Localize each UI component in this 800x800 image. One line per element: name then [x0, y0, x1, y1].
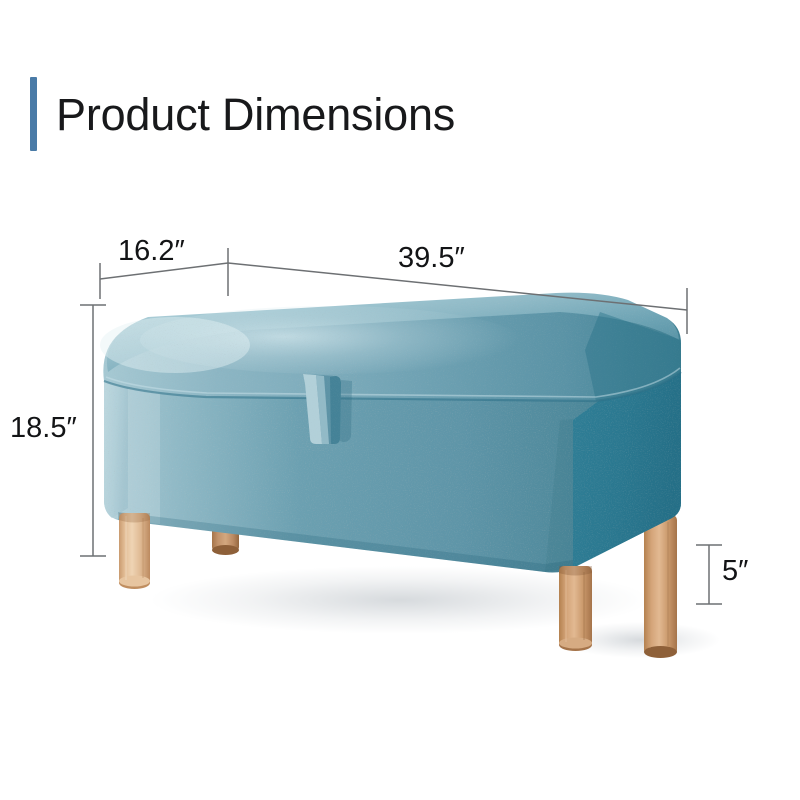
lid-sheen-left: [100, 317, 250, 373]
dimension-label-height: 18.5″: [10, 414, 77, 443]
dimension-leg-height-graphic: [696, 545, 722, 604]
bench-lid: [98, 288, 688, 406]
dimension-label-depth: 16.2″: [118, 237, 185, 266]
body-highlight-left: [104, 381, 160, 524]
bench-drawing: [0, 0, 800, 800]
product-illustration: [0, 0, 800, 800]
leg-front-right: [559, 566, 592, 651]
leg-front-left: [119, 513, 150, 589]
product-dimensions-infographic: Product Dimensions: [0, 0, 800, 800]
dimension-label-leg-height: 5″: [722, 557, 748, 586]
dimension-label-width: 39.5″: [398, 244, 465, 273]
lid-pull-tab-handle[interactable]: [302, 373, 354, 446]
leg-back-right: [644, 515, 677, 658]
